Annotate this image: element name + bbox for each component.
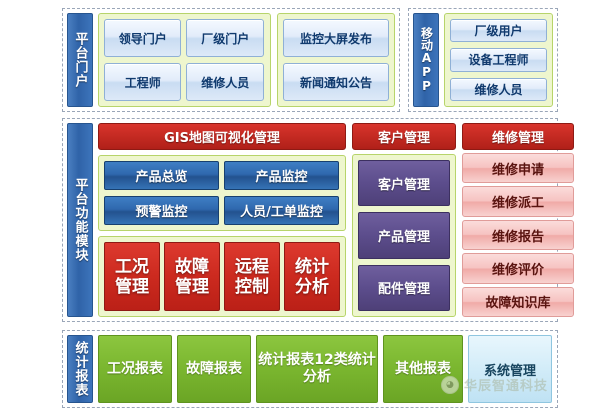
stats-button-other-reports[interactable]: 其他报表 <box>383 335 463 403</box>
customer-group: 客户管理 产品管理 配件管理 <box>352 154 456 317</box>
platform-portal-side-label: 平台门户 <box>67 13 93 107</box>
portal-button-factory[interactable]: 厂级门户 <box>186 19 263 57</box>
gis-button-alarm-monitor[interactable]: 预警监控 <box>104 196 219 225</box>
gis-button-product-overview[interactable]: 产品总览 <box>104 161 219 190</box>
stats-button-fault-report[interactable]: 故障报表 <box>177 335 251 403</box>
gis-header: GIS地图可视化管理 <box>98 123 346 150</box>
gis-column: GIS地图可视化管理 产品总览 产品监控 预警监控 人员/工单监控 工况管理 故… <box>98 123 346 317</box>
app-button-device-engineer[interactable]: 设备工程师 <box>450 48 547 71</box>
customer-column: 客户管理 客户管理 产品管理 配件管理 <box>352 123 456 317</box>
app-button-repair-staff[interactable]: 维修人员 <box>450 78 547 101</box>
core-button-fault-management[interactable]: 故障管理 <box>164 242 220 311</box>
gis-button-staff-workorder-monitor[interactable]: 人员/工单监控 <box>224 196 339 225</box>
maintenance-button-repair-report[interactable]: 维修报告 <box>462 220 574 250</box>
mobile-app-group: 厂级用户 设备工程师 维修人员 <box>444 13 553 107</box>
core-button-statistical-analysis[interactable]: 统计分析 <box>284 242 340 311</box>
platform-functions-side-label: 平台功能模块 <box>67 123 93 317</box>
statistics-body: 工况报表 故障报表 统计报表12类统计分析 其他报表 系统管理 <box>98 335 553 403</box>
core-button-condition-management[interactable]: 工况管理 <box>104 242 160 311</box>
customer-button-product-management[interactable]: 产品管理 <box>358 212 450 258</box>
architecture-diagram: 平台门户 领导门户 厂级门户 工程师 维修人员 监控大屏发布 新闻通知公告 移动… <box>62 8 558 408</box>
maintenance-button-repair-evaluation[interactable]: 维修评价 <box>462 253 574 283</box>
portal-button-engineer[interactable]: 工程师 <box>104 63 181 101</box>
maintenance-button-fault-knowledge-base[interactable]: 故障知识库 <box>462 287 574 317</box>
mobile-app-panel: 移动APP 厂级用户 设备工程师 维修人员 <box>408 8 558 112</box>
portal-button-news-notice[interactable]: 新闻通知公告 <box>283 63 389 101</box>
platform-functions-panel: 平台功能模块 GIS地图可视化管理 产品总览 产品监控 预警监控 人员/工单监控… <box>62 118 558 322</box>
portal-user-group: 领导门户 厂级门户 工程师 维修人员 <box>98 13 271 107</box>
customer-button-customer-management[interactable]: 客户管理 <box>358 160 450 206</box>
functions-body: GIS地图可视化管理 产品总览 产品监控 预警监控 人员/工单监控 工况管理 故… <box>98 123 574 317</box>
gis-core-group: 工况管理 故障管理 远程控制 统计分析 <box>98 236 346 317</box>
maintenance-column: 维修管理 维修申请 维修派工 维修报告 维修评价 故障知识库 <box>462 123 574 317</box>
maintenance-header: 维修管理 <box>462 123 574 150</box>
stats-button-12-category-analysis[interactable]: 统计报表12类统计分析 <box>256 335 378 403</box>
stats-button-condition-report[interactable]: 工况报表 <box>98 335 172 403</box>
maintenance-button-repair-dispatch[interactable]: 维修派工 <box>462 186 574 216</box>
portal-button-leader[interactable]: 领导门户 <box>104 19 181 57</box>
mobile-app-side-label: 移动APP <box>413 13 439 107</box>
portal-button-big-screen-publish[interactable]: 监控大屏发布 <box>283 19 389 57</box>
gis-button-product-monitor[interactable]: 产品监控 <box>224 161 339 190</box>
portal-publish-group: 监控大屏发布 新闻通知公告 <box>277 13 395 107</box>
maintenance-button-repair-request[interactable]: 维修申请 <box>462 153 574 183</box>
customer-header: 客户管理 <box>352 123 456 150</box>
statistics-reports-panel: 统计报表 工况报表 故障报表 统计报表12类统计分析 其他报表 系统管理 <box>62 330 558 408</box>
platform-portal-panel: 平台门户 领导门户 厂级门户 工程师 维修人员 监控大屏发布 新闻通知公告 <box>62 8 400 112</box>
customer-button-parts-management[interactable]: 配件管理 <box>358 265 450 311</box>
portal-button-repair-staff[interactable]: 维修人员 <box>186 63 263 101</box>
stats-button-system-management[interactable]: 系统管理 <box>468 335 552 403</box>
app-button-factory-user[interactable]: 厂级用户 <box>450 19 547 42</box>
gis-monitor-group: 产品总览 产品监控 预警监控 人员/工单监控 <box>98 155 346 231</box>
statistics-side-label: 统计报表 <box>67 335 93 403</box>
core-button-remote-control[interactable]: 远程控制 <box>224 242 280 311</box>
